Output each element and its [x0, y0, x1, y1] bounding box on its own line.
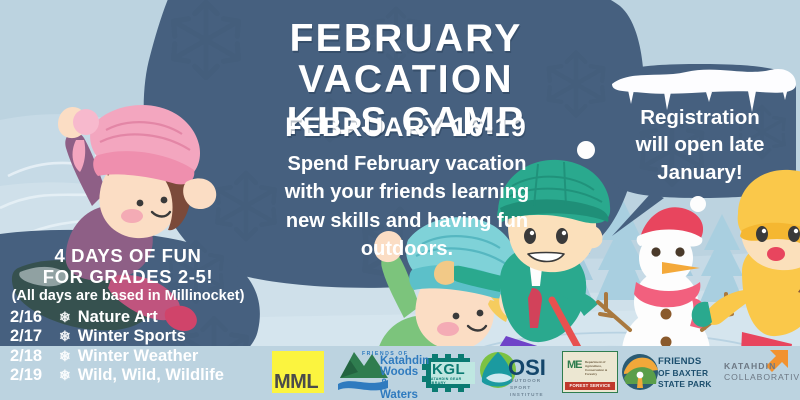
schedule-activity: Winter Sports [78, 328, 186, 345]
schedule-date: 2/17 [10, 328, 52, 345]
kww-wordmark: Katahdin Woods & Waters [380, 356, 429, 400]
kgl-wordmark: KGL [432, 361, 465, 378]
fbsp-line-1: FRIENDS [658, 356, 712, 368]
sponsor-logo-maine-forest-service: ME Department of Agriculture, Conservati… [562, 351, 618, 393]
poster-description: Spend February vacation with your friend… [222, 150, 592, 264]
registration-line: Registration [608, 104, 792, 131]
info-panel-headline: 4 DAYS OF FUN FOR GRADES 2-5! [2, 246, 254, 287]
osi-sub-line-2: INSTITUTE [510, 392, 558, 399]
headline-line-2: FOR GRADES 2-5! [2, 267, 254, 288]
headline-line-1: 4 DAYS OF FUN [2, 246, 254, 267]
osi-subtitle: OUTDOOR SPORT INSTITUTE [510, 378, 558, 399]
poster-canvas: FEBRUARY VACATION KIDS CAMP FEBRUARY 16-… [0, 0, 800, 400]
fbsp-line-2: OF BAXTER [658, 368, 712, 379]
schedule-item: 2/16 ❄ Nature Art [8, 307, 248, 327]
sponsor-logo-katahdin-collaborative: KATAHDIN COLLABORATIVE [724, 355, 800, 389]
title-line-1: FEBRUARY VACATION [196, 18, 616, 101]
registration-line: January! [608, 159, 792, 186]
kww-line-3: & Waters [380, 379, 429, 400]
mfs-department: Department of Agriculture, Conservation … [585, 360, 617, 376]
sponsor-logo-mml: MML [272, 351, 324, 393]
registration-notice: Registration will open late January! [608, 104, 792, 186]
sponsor-logo-strip: MML FRIENDS OF Katahdin Woods & Waters K… [0, 346, 800, 400]
snowflake-icon: ❄ [59, 310, 71, 324]
description-line: Spend February vacation [222, 150, 592, 178]
registration-line: will open late [608, 131, 792, 158]
sponsor-logo-katahdin-woods-waters: FRIENDS OF Katahdin Woods & Waters [336, 350, 422, 394]
fbsp-line-3: STATE PARK [658, 379, 712, 390]
schedule-date: 2/16 [10, 309, 52, 326]
kcol-line-1: KATAHDIN [724, 361, 776, 371]
sponsor-logo-friends-of-baxter-state-park: FRIENDS OF BAXTER STATE PARK [622, 352, 714, 392]
description-line: new skills and having fun [222, 207, 592, 235]
sponsor-logo-osi: OSI OUTDOOR SPORT INSTITUTE [482, 351, 558, 393]
mml-wordmark: MML [274, 371, 318, 394]
description-line: with your friends learning [222, 178, 592, 206]
description-line: outdoors. [222, 235, 592, 263]
schedule-activity: Nature Art [78, 309, 158, 326]
snowflake-icon: ❄ [59, 329, 71, 343]
fbsp-wordmark: FRIENDS OF BAXTER STATE PARK [658, 356, 712, 390]
mfs-banner: FOREST SERVICE [565, 382, 615, 390]
kww-line-2: Woods [380, 367, 429, 378]
schedule-item: 2/17 ❄ Winter Sports [8, 327, 248, 347]
mfs-wordmark: ME [567, 359, 582, 371]
kcol-line-2: COLLABORATIVE [724, 372, 800, 382]
info-panel-note: (All days are based in Millinocket) [2, 288, 254, 304]
osi-sub-line-1: OUTDOOR SPORT [510, 378, 558, 392]
kgl-subtitle: KATAHDIN GEAR LIBRARY [428, 377, 480, 385]
camp-dates: FEBRUARY 16-19 [196, 112, 616, 143]
sponsor-logo-kgl: KGL KATAHDIN GEAR LIBRARY [424, 352, 480, 392]
